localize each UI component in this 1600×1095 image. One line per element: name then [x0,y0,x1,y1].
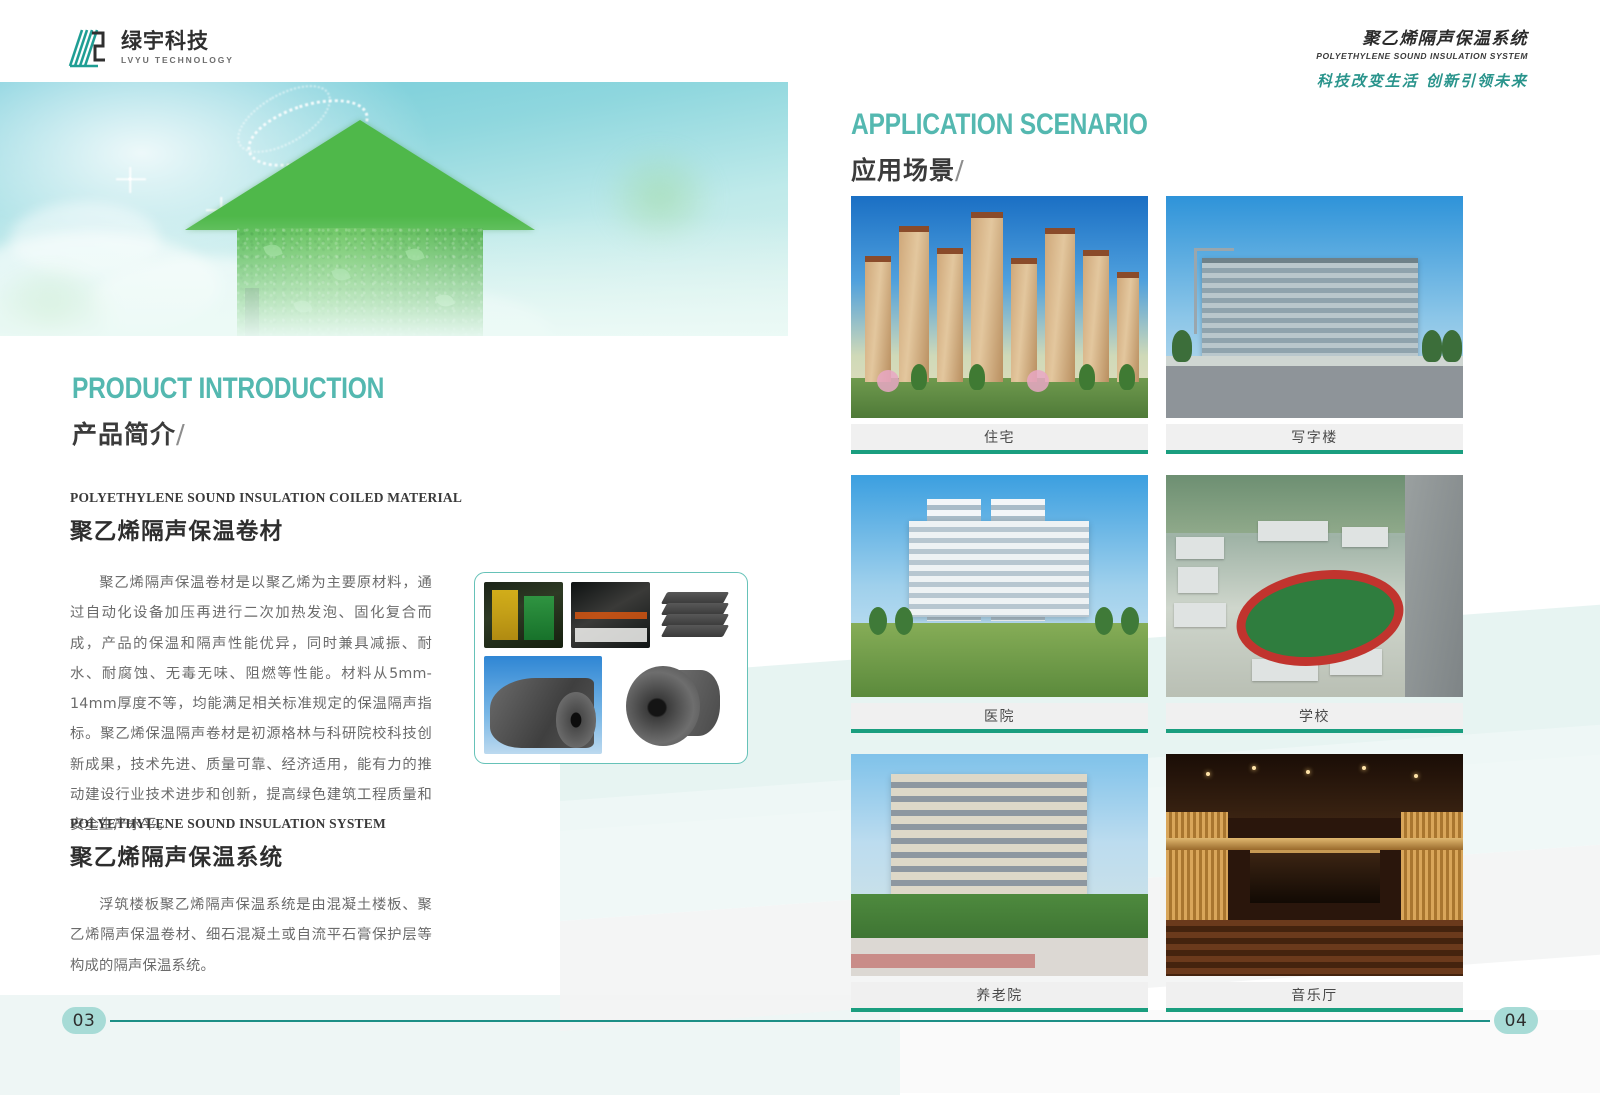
product-body-text: 浮筑楼板聚乙烯隔声保温系统是由混凝土楼板、聚乙烯隔声保温卷材、细石混凝土或自流平… [70,897,432,974]
page-number-right: 04 [1494,1007,1538,1034]
footer-rule-right [800,1020,1490,1022]
product-title-cn: 聚乙烯隔声保温系统 [70,840,470,872]
caption-text: 音乐厅 [1291,985,1338,1005]
hospital-building-photo [851,475,1148,697]
gallery-item-residential[interactable] [851,196,1148,418]
page-number-text: 04 [1505,1011,1528,1031]
header-title-cn: 聚乙烯隔声保温系统 [1316,24,1528,49]
gallery-caption-hospital: 医院 [851,703,1148,733]
house-roof [185,120,535,230]
footer-background-band [0,1010,1600,1093]
production-press-machine-photo [484,582,563,648]
gallery-item-concert-hall[interactable] [1166,754,1463,976]
section-slash: / [176,420,186,450]
caption-text: 养老院 [976,985,1023,1005]
residential-buildings-photo [851,196,1148,418]
product-body-coiled-material: 聚乙烯隔声保温卷材是以聚乙烯为主要原材料，通过自动化设备加压再进行二次加热发泡、… [70,568,432,841]
concert-hall-interior-photo [1166,754,1463,976]
stacked-foam-sheets-photo [658,582,737,648]
product-title-en: POLYETHYLENE SOUND INSULATION SYSTEM [70,816,470,832]
application-scenario-heading: APPLICATION SCENARIO 应用场景/ [851,108,1213,187]
application-gallery: 住宅 写字楼 [851,196,1463,1012]
gallery-caption-office: 写字楼 [1166,424,1463,454]
product-block-system: POLYETHYLENE SOUND INSULATION SYSTEM 聚乙烯… [70,816,470,872]
hero-star-icon [128,177,132,181]
page-number-text: 03 [73,1011,96,1031]
gallery-item-office[interactable] [1166,196,1463,418]
lvyu-logo-icon [68,28,112,68]
gallery-caption-nursing-home: 养老院 [851,982,1148,1012]
header-slogan: 科技改变生活 创新引领未来 [1316,70,1528,91]
gallery-caption-residential: 住宅 [851,424,1148,454]
unrolled-foam-roll-photo [484,656,602,754]
nursing-home-building-photo [851,754,1148,976]
page-number-left: 03 [62,1007,106,1034]
product-title-en: POLYETHYLENE SOUND INSULATION COILED MAT… [70,490,470,506]
brand-logo: 绿宇科技 LVYU TECHNOLOGY [68,28,234,68]
section-title-cn: 应用场景/ [851,151,1213,187]
caption-text: 写字楼 [1291,427,1338,447]
gallery-item-nursing-home[interactable] [851,754,1148,976]
section-title-en: APPLICATION SCENARIO [851,108,1148,142]
foam-roll-closeup-photo [610,656,728,754]
footer-rule-left [110,1020,800,1022]
brand-name-cn: 绿宇科技 [121,31,234,52]
header-product-title: 聚乙烯隔声保温系统 POLYETHYLENE SOUND INSULATION … [1316,24,1528,91]
office-building-photo [1166,196,1463,418]
brand-name-en: LVYU TECHNOLOGY [121,56,234,65]
product-introduction-heading: PRODUCT INTRODUCTION 产品简介/ [72,372,453,451]
school-campus-aerial-photo [1166,475,1463,697]
section-title-en: PRODUCT INTRODUCTION [72,372,384,406]
product-block-coiled-material: POLYETHYLENE SOUND INSULATION COILED MAT… [70,490,470,546]
hero-haze [0,216,788,336]
gallery-item-hospital[interactable] [851,475,1148,697]
section-slash: / [955,156,965,186]
product-photo-collage [474,572,748,764]
caption-text: 住宅 [984,427,1015,447]
section-title-cn-text: 应用场景 [851,156,955,185]
product-body-system: 浮筑楼板聚乙烯隔声保温系统是由混凝土楼板、聚乙烯隔声保温卷材、细石混凝土或自流平… [70,890,432,981]
caption-text: 医院 [984,706,1015,726]
hero-image [0,82,788,336]
gallery-caption-school: 学校 [1166,703,1463,733]
section-title-cn: 产品简介/ [72,415,453,451]
production-line-photo [571,582,650,648]
brochure-spread: 绿宇科技 LVYU TECHNOLOGY 聚乙烯隔声保温系统 POLYETHYL… [0,0,1600,1093]
product-body-text: 聚乙烯隔声保温卷材是以聚乙烯为主要原材料，通过自动化设备加压再进行二次加热发泡、… [70,575,432,833]
section-title-cn-text: 产品简介 [72,420,176,449]
gallery-item-school[interactable] [1166,475,1463,697]
left-bottom-band [0,995,900,1095]
gallery-caption-concert-hall: 音乐厅 [1166,982,1463,1012]
product-title-cn: 聚乙烯隔声保温卷材 [70,514,470,546]
header-title-en: POLYETHYLENE SOUND INSULATION SYSTEM [1316,51,1528,61]
caption-text: 学校 [1299,706,1330,726]
